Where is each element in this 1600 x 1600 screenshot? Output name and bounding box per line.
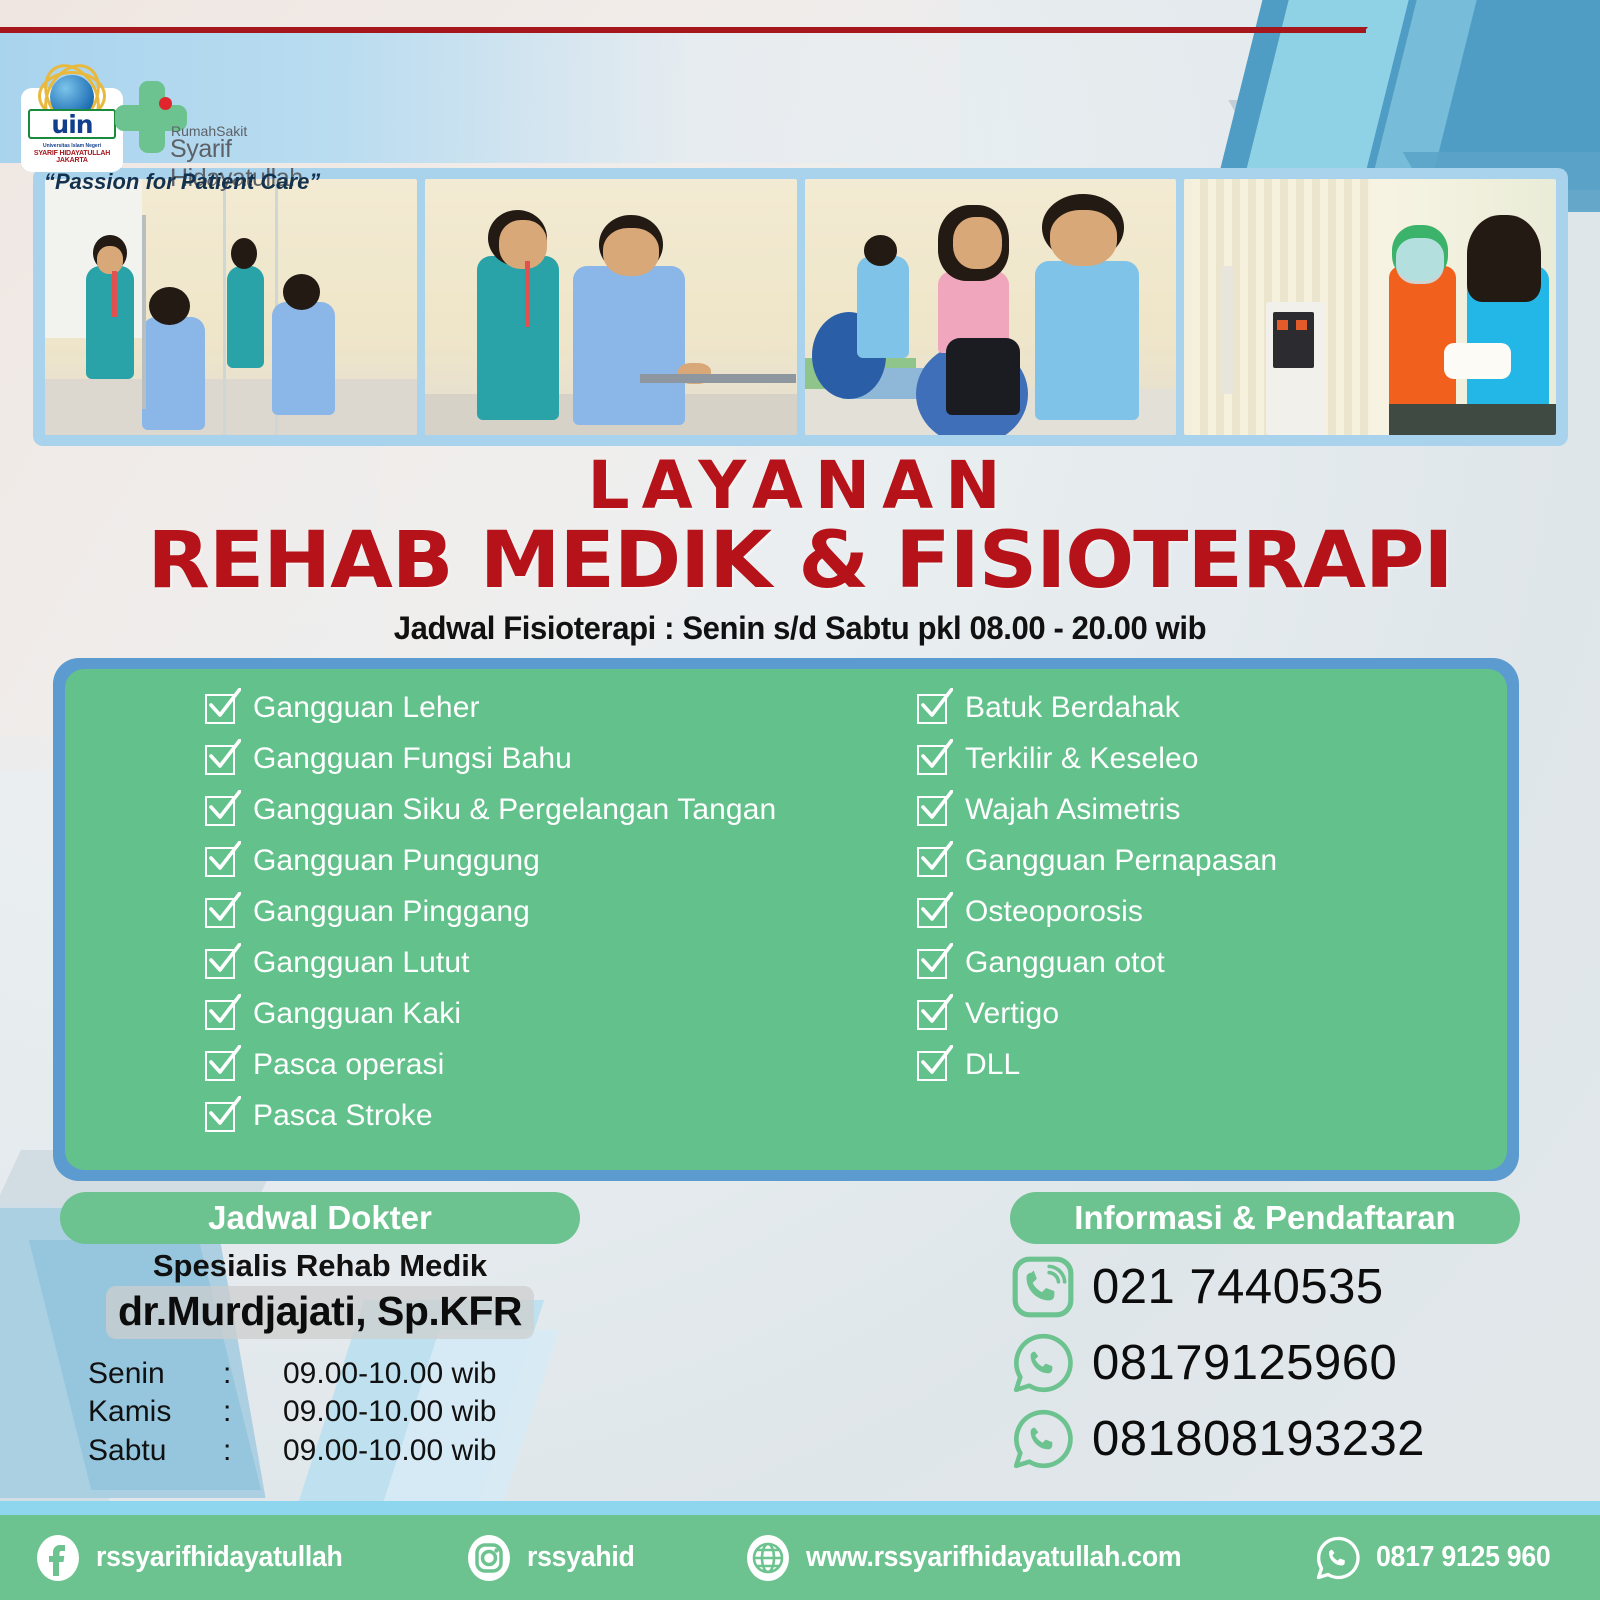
service-item-label: Gangguan Pinggang: [253, 895, 530, 929]
services-column-right: Batuk BerdahakTerkilir & KeseleoWajah As…: [795, 691, 1507, 1170]
footer-item-label: 0817 9125 960: [1376, 1541, 1550, 1574]
page-title-line-1: LAYANAN: [0, 452, 1600, 519]
schedule-day: Sabtu: [88, 1432, 223, 1470]
information-registration-section: Informasi & Pendaftaran 021 744053508179…: [1010, 1192, 1520, 1472]
service-item: Gangguan Pinggang: [205, 895, 795, 929]
footer-item-label: www.rssyarifhidayatullah.com: [806, 1541, 1181, 1574]
instagram-icon: [465, 1534, 513, 1582]
service-item: Gangguan Leher: [205, 691, 795, 725]
service-item: Gangguan otot: [917, 946, 1507, 980]
service-item-label: Osteoporosis: [965, 895, 1143, 929]
checkbox-checked-icon: [205, 1049, 237, 1081]
schedule-row: Kamis:09.00-10.00 wib: [88, 1393, 580, 1431]
checkbox-checked-icon: [205, 743, 237, 775]
photo-strip: [33, 168, 1568, 446]
doctor-name: dr.Murdjajati, Sp.KFR: [106, 1286, 534, 1339]
whatsapp-icon: [1010, 1330, 1076, 1396]
service-item: DLL: [917, 1048, 1507, 1082]
phone-icon: [1010, 1254, 1076, 1320]
contact-row[interactable]: 08179125960: [1010, 1330, 1520, 1396]
service-item: Gangguan Lutut: [205, 946, 795, 980]
checkbox-checked-icon: [917, 998, 949, 1030]
whatsapp-icon: [1314, 1534, 1362, 1582]
contact-list: 021 744053508179125960081808193232: [1010, 1254, 1520, 1472]
hospital-logo: RumahSakit Syarif Hidayatullah: [115, 81, 305, 169]
photo-electrotherapy-ultrasound-session: [1184, 179, 1556, 435]
doctor-schedule-table: Senin:09.00-10.00 wibKamis:09.00-10.00 w…: [60, 1355, 580, 1470]
uin-subtitle-1: Universitas Islam Negeri: [20, 143, 124, 149]
schedule-time: 09.00-10.00 wib: [283, 1432, 497, 1470]
checkbox-checked-icon: [205, 692, 237, 724]
footer-item-label: rssyahid: [527, 1541, 635, 1574]
service-item-label: Batuk Berdahak: [965, 691, 1180, 725]
services-panel-inner: Gangguan LeherGangguan Fungsi BahuGanggu…: [65, 669, 1507, 1170]
checkbox-checked-icon: [917, 896, 949, 928]
checkbox-checked-icon: [205, 845, 237, 877]
doctor-schedule-heading: Jadwal Dokter: [60, 1192, 580, 1244]
service-item-label: Vertigo: [965, 997, 1059, 1031]
schedule-time: 09.00-10.00 wib: [283, 1355, 497, 1393]
schedule-time: 09.00-10.00 wib: [283, 1393, 497, 1431]
service-item-label: Gangguan Lutut: [253, 946, 470, 980]
service-item: Gangguan Kaki: [205, 997, 795, 1031]
globe-icon: [744, 1534, 792, 1582]
service-item-label: Wajah Asimetris: [965, 793, 1180, 827]
checkbox-checked-icon: [205, 794, 237, 826]
uin-subtitle-2: SYARIF HIDAYATULLAH JAKARTA: [20, 150, 124, 164]
footer-facebook-item[interactable]: rssyarifhidayatullah: [34, 1534, 364, 1582]
uin-wordmark: uin: [28, 109, 116, 139]
service-item: Batuk Berdahak: [917, 691, 1507, 725]
schedule-row: Senin:09.00-10.00 wib: [88, 1355, 580, 1393]
schedule-subtitle: Jadwal Fisioterapi : Senin s/d Sabtu pkl…: [24, 610, 1576, 647]
services-column-left: Gangguan LeherGangguan Fungsi BahuGanggu…: [65, 691, 795, 1170]
photo-pediatric-gym-ball-therapy: [805, 179, 1177, 435]
whatsapp-icon: [1010, 1406, 1076, 1472]
uin-logo: uin Universitas Islam Negeri SYARIF HIDA…: [20, 73, 124, 173]
contact-row[interactable]: 021 7440535: [1010, 1254, 1520, 1320]
service-item: Gangguan Pernapasan: [917, 844, 1507, 878]
poster-header: uin Universitas Islam Negeri SYARIF HIDA…: [0, 33, 1600, 163]
checkbox-checked-icon: [917, 743, 949, 775]
service-item-label: Terkilir & Keseleo: [965, 742, 1199, 776]
checkbox-checked-icon: [917, 794, 949, 826]
schedule-day: Kamis: [88, 1393, 223, 1431]
service-item-label: Gangguan Pernapasan: [965, 844, 1277, 878]
contact-row[interactable]: 081808193232: [1010, 1406, 1520, 1472]
schedule-day: Senin: [88, 1355, 223, 1393]
tagline: “Passion for Patient Care”: [44, 169, 320, 195]
service-item: Gangguan Punggung: [205, 844, 795, 878]
service-item: Osteoporosis: [917, 895, 1507, 929]
checkbox-checked-icon: [917, 845, 949, 877]
service-item: Pasca Stroke: [205, 1099, 795, 1133]
red-dot-icon: [159, 97, 172, 110]
service-item-label: DLL: [965, 1048, 1020, 1082]
title-block: LAYANAN REHAB MEDIK & FISIOTERAPI Jadwal…: [0, 452, 1600, 647]
contact-number: 021 7440535: [1092, 1259, 1384, 1315]
checkbox-checked-icon: [205, 947, 237, 979]
doctor-specialty: Spesialis Rehab Medik: [60, 1248, 580, 1284]
footer-item-label: rssyarifhidayatullah: [96, 1541, 343, 1574]
schedule-separator: :: [223, 1432, 283, 1470]
schedule-row: Sabtu:09.00-10.00 wib: [88, 1432, 580, 1470]
schedule-separator: :: [223, 1355, 283, 1393]
footer-top-rule: [0, 1501, 1600, 1515]
checkbox-checked-icon: [917, 692, 949, 724]
photo-shoulder-pulley-therapy: [45, 179, 417, 435]
footer-instagram-item[interactable]: rssyahid: [465, 1534, 644, 1582]
service-item-label: Gangguan Kaki: [253, 997, 461, 1031]
service-item-label: Gangguan otot: [965, 946, 1165, 980]
service-item-label: Gangguan Siku & Pergelangan Tangan: [253, 793, 776, 827]
service-item: Gangguan Siku & Pergelangan Tangan: [205, 793, 795, 827]
facebook-icon: [34, 1534, 82, 1582]
service-item: Wajah Asimetris: [917, 793, 1507, 827]
service-item: Gangguan Fungsi Bahu: [205, 742, 795, 776]
checkbox-checked-icon: [205, 1100, 237, 1132]
contact-number: 081808193232: [1092, 1411, 1425, 1467]
footer-globe-item[interactable]: www.rssyarifhidayatullah.com: [744, 1534, 1214, 1582]
doctor-schedule-section: Jadwal Dokter Spesialis Rehab Medik dr.M…: [60, 1192, 580, 1470]
service-item: Vertigo: [917, 997, 1507, 1031]
service-item: Terkilir & Keseleo: [917, 742, 1507, 776]
service-item: Pasca operasi: [205, 1048, 795, 1082]
checkbox-checked-icon: [205, 998, 237, 1030]
footer-whatsapp-item[interactable]: 0817 9125 960: [1314, 1534, 1566, 1582]
page-title-line-2: REHAB MEDIK & FISIOTERAPI: [0, 519, 1600, 603]
service-item-label: Pasca operasi: [253, 1048, 444, 1082]
service-item-label: Gangguan Punggung: [253, 844, 540, 878]
checkbox-checked-icon: [205, 896, 237, 928]
checkbox-checked-icon: [917, 947, 949, 979]
services-panel: Gangguan LeherGangguan Fungsi BahuGanggu…: [53, 658, 1519, 1181]
contact-number: 08179125960: [1092, 1335, 1397, 1391]
service-item-label: Pasca Stroke: [253, 1099, 433, 1133]
info-heading: Informasi & Pendaftaran: [1010, 1192, 1520, 1244]
service-item-label: Gangguan Fungsi Bahu: [253, 742, 572, 776]
photo-parallel-bar-gait-training: [425, 179, 797, 435]
schedule-separator: :: [223, 1393, 283, 1431]
social-footer: rssyarifhidayatullahrssyahidwww.rssyarif…: [0, 1515, 1600, 1600]
checkbox-checked-icon: [917, 1049, 949, 1081]
service-item-label: Gangguan Leher: [253, 691, 480, 725]
